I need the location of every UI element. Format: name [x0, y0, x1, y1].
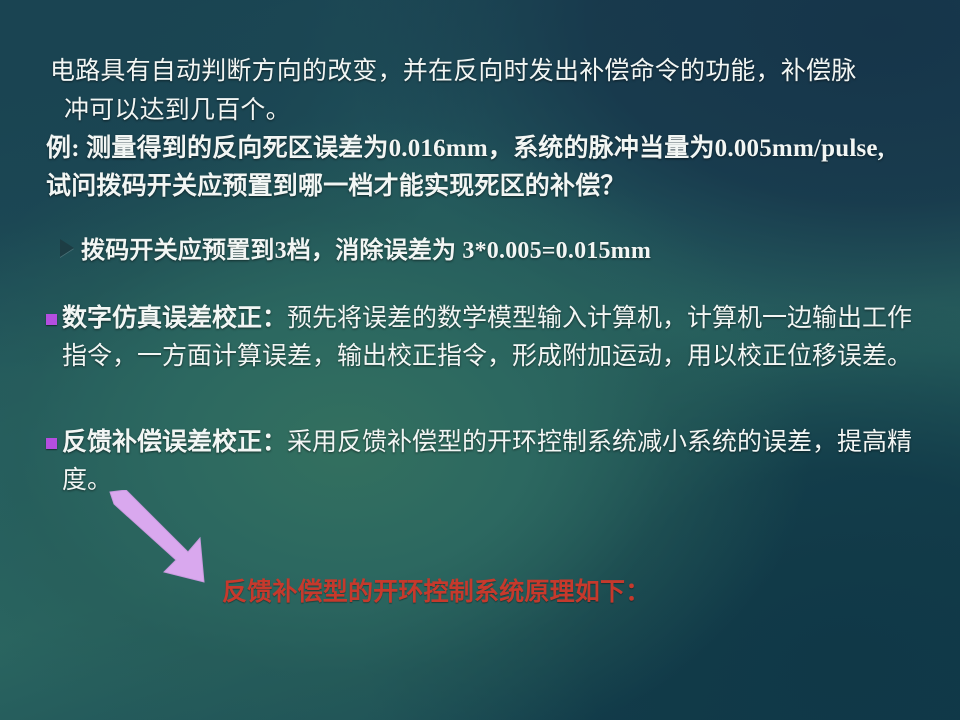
bullet-block-digital-simulation: 数字仿真误差校正：预先将误差的数学模型输入计算机，计算机一边输出工作指令，一方面… [46, 300, 936, 376]
square-bullet-icon [46, 314, 57, 325]
example-line-2: 试问拨码开关应预置到哪一档才能实现死区的补偿？ [46, 168, 946, 206]
square-bullet-icon [46, 438, 57, 449]
bullet-block-feedback-compensation: 反馈补偿误差校正：采用反馈补偿型的开环控制系统减小系统的误差，提高精度。 [46, 424, 936, 500]
slide-canvas: 电路具有自动判断方向的改变，并在反向时发出补偿命令的功能，补偿脉 冲可以达到几百… [0, 0, 960, 720]
answer-text: 拨码开关应预置到3档，消除误差为 3*0.005=0.015mm [81, 230, 651, 265]
bullet-block-digital-heading: 数字仿真误差校正： [62, 305, 287, 332]
example-line-1: 例: 测量得到的反向死区误差为0.016mm，系统的脉冲当量为0.005mm/p… [46, 135, 884, 162]
down-right-arrow-icon [96, 490, 226, 590]
example-paragraph: 例: 测量得到的反向死区误差为0.016mm，系统的脉冲当量为0.005mm/p… [46, 130, 946, 206]
bullet-block-digital-text: 数字仿真误差校正：预先将误差的数学模型输入计算机，计算机一边输出工作指令，一方面… [62, 300, 936, 376]
triangle-bullet-icon [60, 239, 74, 257]
bullet-block-feedback-heading: 反馈补偿误差校正： [62, 429, 287, 456]
caption-text: 反馈补偿型的开环控制系统原理如下： [222, 572, 650, 608]
intro-paragraph: 电路具有自动判断方向的改变，并在反向时发出补偿命令的功能，补偿脉 冲可以达到几百… [50, 52, 930, 130]
intro-line-2: 冲可以达到几百个。 [50, 91, 930, 130]
bullet-block-feedback-text: 反馈补偿误差校正：采用反馈补偿型的开环控制系统减小系统的误差，提高精度。 [62, 424, 936, 500]
answer-line: 拨码开关应预置到3档，消除误差为 3*0.005=0.015mm [60, 230, 651, 265]
intro-line-1: 电路具有自动判断方向的改变，并在反向时发出补偿命令的功能，补偿脉 [50, 58, 856, 85]
